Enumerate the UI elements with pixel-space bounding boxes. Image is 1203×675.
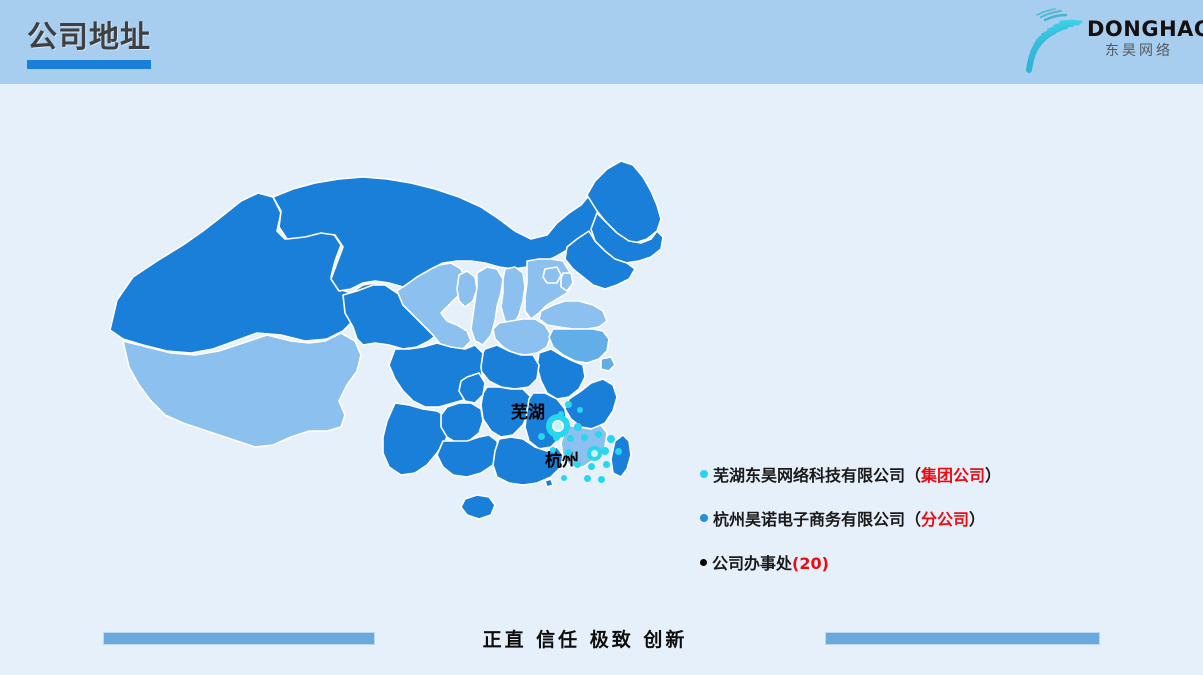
- legend-text: 杭州昊诺电子商务有限公司（分公司）: [713, 506, 985, 530]
- map-office-dot[interactable]: [574, 461, 581, 468]
- header-band: 公司地址: [0, 0, 1203, 84]
- map-office-dot[interactable]: [615, 448, 622, 455]
- map-office-dot[interactable]: [538, 433, 545, 440]
- marker-core: [552, 420, 564, 432]
- donghao-wing-icon: [1021, 8, 1089, 74]
- map-office-dot[interactable]: [565, 401, 572, 408]
- brand-name: DONGHAO: [1087, 18, 1191, 41]
- brand-logo: DONGHAO 东昊网络: [1021, 6, 1189, 76]
- legend-company-name: 杭州昊诺电子商务有限公司: [713, 510, 905, 529]
- page-title: 公司地址: [27, 20, 151, 56]
- map-office-dot[interactable]: [553, 434, 560, 441]
- map-office-dot[interactable]: [603, 461, 610, 468]
- map-label-wuhu: 芜湖: [511, 398, 545, 423]
- legend-company-name: 公司办事处: [712, 554, 792, 573]
- footer-bar-right: [825, 632, 1100, 645]
- legend-bullet-blue-icon: [700, 514, 708, 522]
- map-office-dot[interactable]: [588, 463, 595, 470]
- map-office-dot[interactable]: [598, 476, 605, 483]
- brand-subname: 东昊网络: [1087, 42, 1191, 60]
- marker-core: [591, 450, 598, 457]
- map-marker-hangzhou[interactable]: [587, 446, 602, 461]
- brand-text: DONGHAO 东昊网络: [1087, 18, 1191, 60]
- map-office-dot[interactable]: [550, 447, 556, 453]
- legend-close-paren: ）: [969, 510, 985, 529]
- map-office-dot[interactable]: [595, 431, 602, 438]
- map-office-dot[interactable]: [607, 435, 615, 443]
- map-office-dot[interactable]: [561, 475, 567, 481]
- legend-open-paren: （: [905, 510, 921, 529]
- legend-highlight: 分公司: [921, 510, 969, 529]
- map-office-dot[interactable]: [577, 407, 583, 413]
- footer-slogan: 正直 信任 极致 创新: [455, 625, 715, 652]
- legend: 芜湖东昊网络科技有限公司（集团公司） 杭州昊诺电子商务有限公司（分公司） 公司办…: [700, 462, 1140, 594]
- legend-item[interactable]: 芜湖东昊网络科技有限公司（集团公司）: [700, 462, 1140, 486]
- title-underline: [27, 60, 151, 69]
- legend-company-name: 芜湖东昊网络科技有限公司: [713, 466, 905, 485]
- legend-open-paren: （: [905, 466, 921, 485]
- legend-item[interactable]: 公司办事处(20): [700, 550, 1140, 574]
- page-title-group: 公司地址: [27, 20, 151, 69]
- slide-canvas: 公司地址: [0, 0, 1203, 675]
- map-office-dot[interactable]: [565, 449, 572, 456]
- legend-highlight: 集团公司: [921, 466, 985, 485]
- map-office-dot[interactable]: [601, 447, 609, 455]
- legend-text: 公司办事处(20): [712, 550, 829, 574]
- legend-text: 芜湖东昊网络科技有限公司（集团公司）: [713, 462, 1001, 486]
- legend-bullet-cyan-icon: [700, 470, 708, 478]
- legend-bullet-black-icon: [700, 559, 707, 566]
- legend-close-paren: ）: [985, 466, 1001, 485]
- legend-highlight: (20): [792, 554, 829, 573]
- map-office-dot[interactable]: [567, 435, 574, 442]
- map-office-dot[interactable]: [574, 423, 582, 431]
- map-office-dot[interactable]: [581, 434, 588, 441]
- china-map-svg: [95, 135, 715, 605]
- china-map: 芜湖 杭州: [95, 135, 715, 605]
- legend-item[interactable]: 杭州昊诺电子商务有限公司（分公司）: [700, 506, 1140, 530]
- footer-bar-left: [103, 632, 375, 645]
- map-office-dot[interactable]: [584, 475, 591, 482]
- map-office-dot[interactable]: [558, 411, 564, 417]
